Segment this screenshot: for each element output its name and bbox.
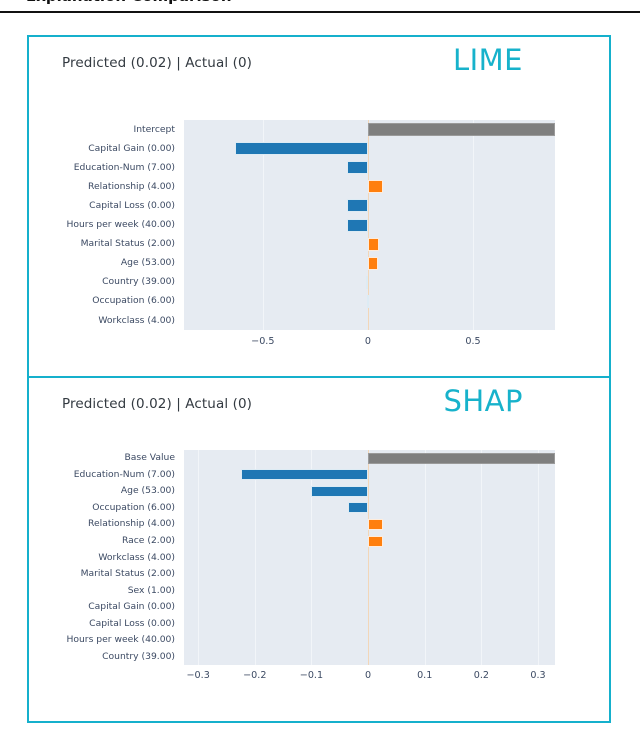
shap-x-tick-label: −0.2: [231, 670, 279, 681]
shap-bar: [348, 502, 368, 513]
shap-x-tick-label: −0.1: [287, 670, 335, 681]
shap-x-tick-label: −0.3: [174, 670, 222, 681]
lime-category-label: Relationship (4.00): [29, 182, 175, 191]
shap-chart: Base ValueEducation-Num (7.00)Age (53.00…: [29, 378, 609, 723]
shap-gridline: [425, 450, 426, 665]
shap-plot-area: [184, 450, 555, 665]
shap-x-tick-label: 0.2: [457, 670, 505, 681]
explanation-frame: Predicted (0.02) | Actual (0) LIME Inter…: [27, 35, 611, 723]
lime-bar: [368, 180, 383, 193]
lime-bar: [347, 219, 368, 232]
lime-category-label: Capital Gain (0.00): [29, 144, 175, 153]
lime-chart: InterceptCapital Gain (0.00)Education-Nu…: [29, 37, 609, 376]
lime-category-label: Workclass (4.00): [29, 316, 175, 325]
shap-bar: [368, 536, 383, 547]
lime-bar: [347, 161, 368, 174]
lime-bar: [347, 199, 368, 212]
shap-gridline: [255, 450, 256, 665]
shap-x-tick-label: 0: [344, 670, 392, 681]
shap-category-label: Base Value: [29, 453, 175, 462]
lime-bar: [368, 123, 555, 136]
lime-category-label: Intercept: [29, 125, 175, 134]
shap-category-label: Marital Status (2.00): [29, 569, 175, 578]
shap-category-label: Capital Gain (0.00): [29, 602, 175, 611]
lime-category-label: Age (53.00): [29, 258, 175, 267]
panel-lime: Predicted (0.02) | Actual (0) LIME Inter…: [29, 37, 609, 376]
shap-category-label: Hours per week (40.00): [29, 635, 175, 644]
lime-bar: [235, 142, 367, 155]
lime-gridline: [473, 120, 474, 330]
shap-x-tick-label: 0.1: [401, 670, 449, 681]
lime-category-label: Marital Status (2.00): [29, 239, 175, 248]
shap-category-label: Age (53.00): [29, 486, 175, 495]
shap-gridline: [311, 450, 312, 665]
shap-category-label: Workclass (4.00): [29, 553, 175, 562]
shap-gridline: [481, 450, 482, 665]
lime-category-label: Occupation (6.00): [29, 296, 175, 305]
clipped-header-strip: Explanation Comparison: [0, 0, 640, 11]
panel-shap: Predicted (0.02) | Actual (0) SHAP Base …: [29, 378, 609, 723]
lime-x-tick-label: 0: [344, 336, 392, 347]
shap-category-label: Country (39.00): [29, 652, 175, 661]
lime-category-label: Education-Num (7.00): [29, 163, 175, 172]
shap-bar: [311, 486, 368, 497]
shap-category-label: Sex (1.00): [29, 586, 175, 595]
shap-category-label: Occupation (6.00): [29, 503, 175, 512]
shap-bar: [241, 469, 368, 480]
lime-category-label: Capital Loss (0.00): [29, 201, 175, 210]
shap-category-label: Race (2.00): [29, 536, 175, 545]
lime-x-tick-label: 0.5: [449, 336, 497, 347]
lime-category-label: Hours per week (40.00): [29, 220, 175, 229]
shap-category-label: Education-Num (7.00): [29, 470, 175, 479]
clipped-header-text: Explanation Comparison: [26, 0, 232, 5]
lime-bar: [368, 257, 379, 270]
header-divider-rule: [0, 11, 640, 13]
shap-category-label: Relationship (4.00): [29, 519, 175, 528]
lime-bar: [366, 276, 368, 289]
lime-plot-area: [184, 120, 555, 330]
shap-gridline: [198, 450, 199, 665]
lime-category-label: Country (39.00): [29, 277, 175, 286]
shap-x-tick-label: 0.3: [514, 670, 562, 681]
shap-category-label: Capital Loss (0.00): [29, 619, 175, 628]
lime-bar: [368, 238, 379, 251]
shap-bar: [368, 519, 383, 530]
lime-x-tick-label: −0.5: [239, 336, 287, 347]
shap-gridline: [538, 450, 539, 665]
shap-bar: [368, 453, 555, 464]
lime-bar: [367, 295, 369, 308]
